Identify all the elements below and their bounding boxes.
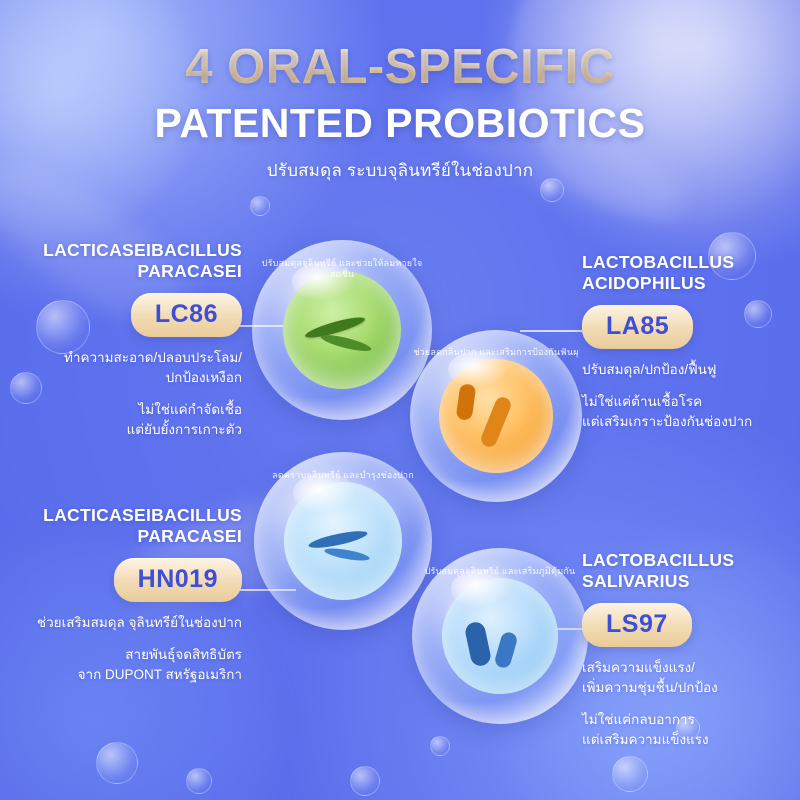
item-description-line-2: เพิ่มความชุ่มชื้น/ปกป้อง [582,680,718,695]
droplet-caption: ปรับสมดุลจุลินทรีย์ และช่วยให้ลมหายใจสดช… [252,258,432,281]
item-note: ไม่ใช่แค่กำจัดเชื้อ แต่ยับยั้งการเกาะตัว [10,400,242,441]
bubble-12 [250,196,270,216]
item-description: ปรับสมดุล/ปกป้อง/ฟื้นฟู [582,360,797,380]
item-la85: LACTOBACILLUS ACIDOPHILUS LA85 ปรับสมดุล… [582,252,797,432]
item-note-line-1: ไม่ใช่แค่กำจัดเชื้อ [139,402,243,417]
item-name: LACTOBACILLUS ACIDOPHILUS [582,252,797,295]
item-description-line-1: ปรับสมดุล/ปกป้อง/ฟื้นฟู [582,362,716,377]
item-name-line-2: PARACASEI [138,526,242,546]
item-description-line-1: เสริมความแข็งแรง/ [582,660,695,675]
droplet-lc86: ปรับสมดุลจุลินทรีย์ และช่วยให้ลมหายใจสดช… [252,240,432,420]
item-description: ช่วยเสริมสมดุล จุลินทรีย์ในช่องปาก [10,613,242,633]
bubble-5 [96,742,138,784]
item-description: เสริมความแข็งแรง/ เพิ่มความชุ่มชื้น/ปกป้… [582,658,797,699]
item-name: LACTOBACILLUS SALIVARIUS [582,550,797,593]
header: 4 ORAL-SPECIFIC PATENTED PROBIOTICS ปรับ… [0,42,800,184]
item-hn019: LACTICASEIBACILLUS PARACASEI HN019 ช่วยเ… [10,505,242,685]
droplet-hn019: ลดคราบจุลินทรีย์ และบำรุงช่องปาก [254,452,432,630]
item-name-line-2: PARACASEI [138,261,242,281]
item-note-line-2: แต่ยับยั้งการเกาะตัว [127,422,242,437]
title-line-1: 4 ORAL-SPECIFIC [0,42,800,94]
title-line-2: PATENTED PROBIOTICS [0,100,800,147]
item-ls97: LACTOBACILLUS SALIVARIUS LS97 เสริมความแ… [582,550,797,751]
item-description-line-1: ทำความสะอาด/ปลอบประโลม/ [64,350,242,365]
poster-canvas: 4 ORAL-SPECIFIC PATENTED PROBIOTICS ปรับ… [0,0,800,800]
droplet-la85: ช่วยลดกลิ่นปาก และเสริมการป้องกันฟันผุ [410,330,582,502]
item-name: LACTICASEIBACILLUS PARACASEI [10,505,242,548]
item-lc86: LACTICASEIBACILLUS PARACASEI LC86 ทำความ… [10,240,242,441]
droplet-caption: ลดคราบจุลินทรีย์ และบำรุงช่องปาก [254,470,432,481]
item-name-line-1: LACTOBACILLUS [582,252,734,272]
item-note-line-2: แต่เสริมเกราะป้องกันช่องปาก [582,414,752,429]
item-code-pill-hn019[interactable]: HN019 [114,558,242,602]
bubble-9 [350,766,380,796]
item-note: สายพันธุ์จดสิทธิบัตร จาก DUPONT สหรัฐอเม… [10,645,242,686]
item-description-line-2: ปกป้องเหงือก [166,370,242,385]
item-name-line-1: LACTOBACILLUS [582,550,734,570]
item-code-pill-ls97[interactable]: LS97 [582,603,692,647]
item-description: ทำความสะอาด/ปลอบประโลม/ ปกป้องเหงือก [10,348,242,389]
droplet-caption: ปรับสมดุลจุลินทรีย์ และเสริมภูมิคุ้มกัน [412,566,588,577]
item-note-line-2: จาก DUPONT สหรัฐอเมริกา [78,667,242,682]
item-note: ไม่ใช่แค่กลบอาการ แต่เสริมความแข็งแรง [582,710,797,751]
connector-la85 [520,330,582,332]
item-note: ไม่ใช่แค่ต้านเชื้อโรค แต่เสริมเกราะป้องก… [582,392,797,433]
droplet-caption: ช่วยลดกลิ่นปาก และเสริมการป้องกันฟันผุ [410,347,582,358]
item-note-line-2: แต่เสริมความแข็งแรง [582,732,709,747]
item-name-line-1: LACTICASEIBACILLUS [43,505,242,525]
item-name-line-2: SALIVARIUS [582,571,690,591]
item-name: LACTICASEIBACILLUS PARACASEI [10,240,242,283]
item-description-line-1: ช่วยเสริมสมดุล จุลินทรีย์ในช่องปาก [37,615,242,630]
bubble-6 [186,768,212,794]
bubble-7 [612,756,648,792]
subtitle: ปรับสมดุล ระบบจุลินทรีย์ในช่องปาก [0,157,800,184]
item-name-line-1: LACTICASEIBACILLUS [43,240,242,260]
item-note-line-1: ไม่ใช่แค่ต้านเชื้อโรค [582,394,702,409]
item-code-pill-lc86[interactable]: LC86 [131,293,242,337]
item-note-line-1: สายพันธุ์จดสิทธิบัตร [125,647,242,662]
item-code-pill-la85[interactable]: LA85 [582,305,693,349]
item-note-line-1: ไม่ใช่แค่กลบอาการ [582,712,695,727]
item-name-line-2: ACIDOPHILUS [582,273,706,293]
droplet-ls97: ปรับสมดุลจุลินทรีย์ และเสริมภูมิคุ้มกัน [412,548,588,724]
bubble-10 [430,736,450,756]
